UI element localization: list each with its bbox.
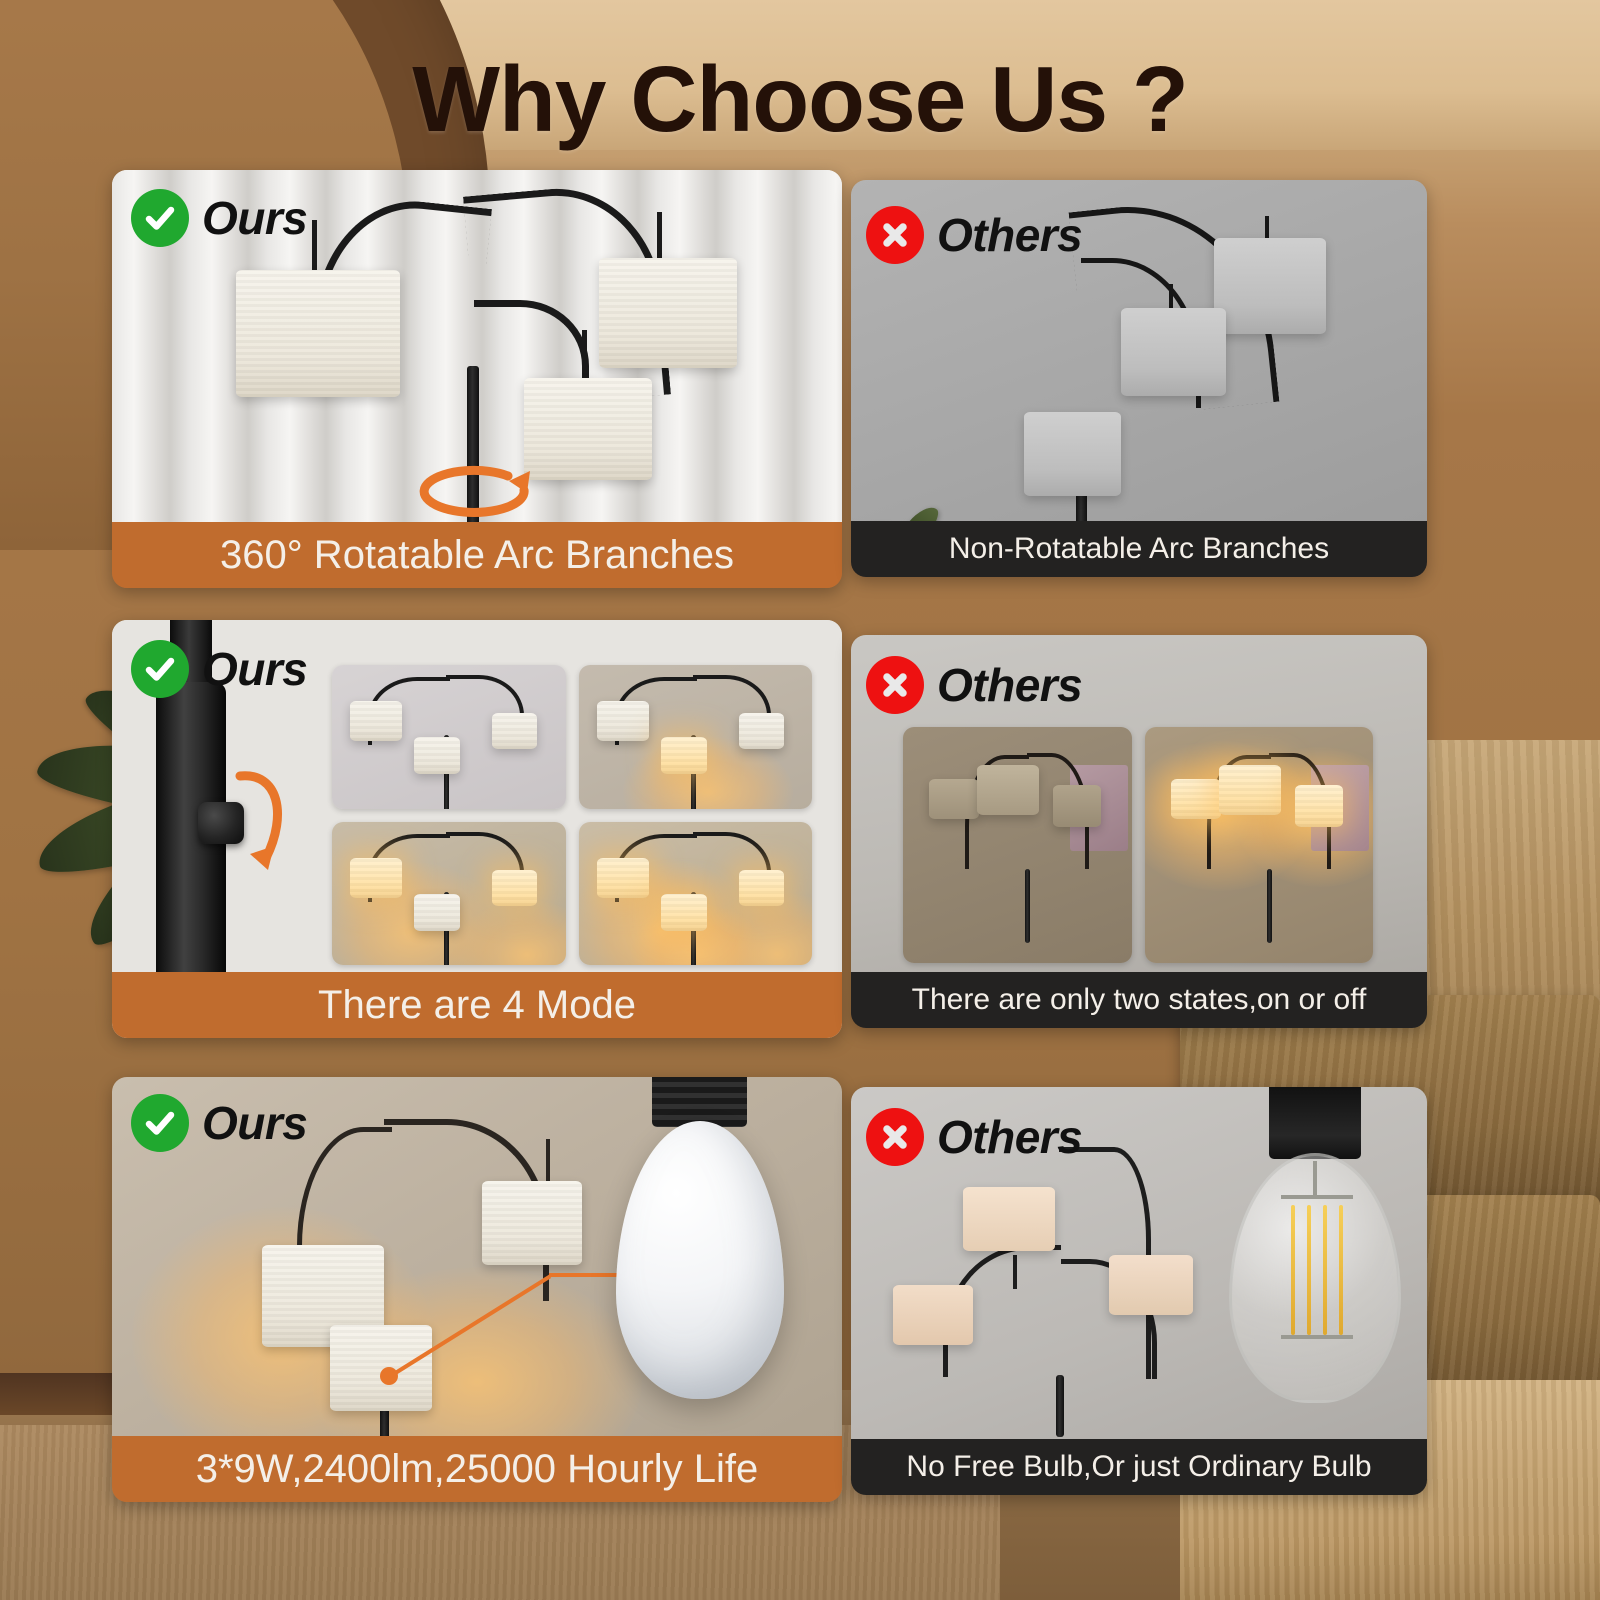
mode-thumbnail bbox=[579, 665, 813, 809]
comparison-grid: 360° Rotatable Arc Branches Ours bbox=[0, 0, 1600, 1600]
state-thumbnail-grid bbox=[903, 727, 1373, 963]
badge-others-modes: Others bbox=[866, 656, 1082, 714]
cross-circle-icon bbox=[866, 656, 924, 714]
badge-label: Ours bbox=[202, 1100, 307, 1146]
lamp-shade bbox=[1024, 412, 1121, 496]
mode-thumbnail bbox=[332, 822, 566, 966]
rotation-arrow-icon bbox=[412, 460, 542, 522]
caption-text: Non-Rotatable Arc Branches bbox=[949, 532, 1329, 566]
caption-text: There are only two states,on or off bbox=[912, 983, 1367, 1017]
caption-bar: There are 4 Mode bbox=[112, 972, 842, 1038]
caption-bar: Non-Rotatable Arc Branches bbox=[851, 521, 1427, 577]
badge-ours-rotation: Ours bbox=[131, 189, 307, 247]
badge-label: Others bbox=[937, 662, 1082, 708]
badge-others-rotation: Others bbox=[866, 206, 1082, 264]
caption-text: 360° Rotatable Arc Branches bbox=[220, 533, 734, 578]
lamp-shade bbox=[1109, 1255, 1193, 1315]
caption-bar: There are only two states,on or off bbox=[851, 972, 1427, 1028]
lamp-shade bbox=[1214, 238, 1326, 334]
cross-circle-icon bbox=[866, 1108, 924, 1166]
caption-text: There are 4 Mode bbox=[318, 983, 636, 1028]
caption-bar: 3*9W,2400lm,25000 Hourly Life bbox=[112, 1436, 842, 1502]
bulb-base bbox=[1269, 1087, 1361, 1159]
rotation-arrow-icon bbox=[230, 762, 300, 892]
badge-label: Ours bbox=[202, 646, 307, 692]
lamp-shade bbox=[599, 258, 737, 368]
state-thumbnail bbox=[903, 727, 1132, 963]
lamp-shade bbox=[236, 270, 400, 397]
caption-text: 3*9W,2400lm,25000 Hourly Life bbox=[196, 1447, 759, 1492]
check-circle-icon bbox=[131, 189, 189, 247]
badge-ours-bulb: Ours bbox=[131, 1094, 307, 1152]
lamp-shade bbox=[524, 378, 652, 480]
check-circle-icon bbox=[131, 1094, 189, 1152]
badge-label: Others bbox=[937, 1114, 1082, 1160]
mode-thumbnail-grid bbox=[332, 665, 812, 965]
state-thumbnail bbox=[1145, 727, 1374, 963]
lamp-shade bbox=[482, 1181, 582, 1265]
lamp-shade bbox=[1121, 308, 1226, 396]
mode-thumbnail bbox=[579, 822, 813, 966]
check-circle-icon bbox=[131, 640, 189, 698]
cross-circle-icon bbox=[866, 206, 924, 264]
badge-ours-modes: Ours bbox=[131, 640, 307, 698]
lamp-shade bbox=[963, 1187, 1055, 1251]
badge-label: Ours bbox=[202, 195, 307, 241]
page-title: Why Choose Us ? bbox=[0, 46, 1600, 153]
caption-bar: No Free Bulb,Or just Ordinary Bulb bbox=[851, 1439, 1427, 1495]
caption-bar: 360° Rotatable Arc Branches bbox=[112, 522, 842, 588]
badge-label: Others bbox=[937, 212, 1082, 258]
mode-thumbnail bbox=[332, 665, 566, 809]
badge-others-bulb: Others bbox=[866, 1108, 1082, 1166]
bulb-base bbox=[652, 1077, 747, 1127]
lamp-shade bbox=[330, 1325, 432, 1411]
caption-text: No Free Bulb,Or just Ordinary Bulb bbox=[906, 1450, 1371, 1484]
lamp-shade bbox=[893, 1285, 973, 1345]
